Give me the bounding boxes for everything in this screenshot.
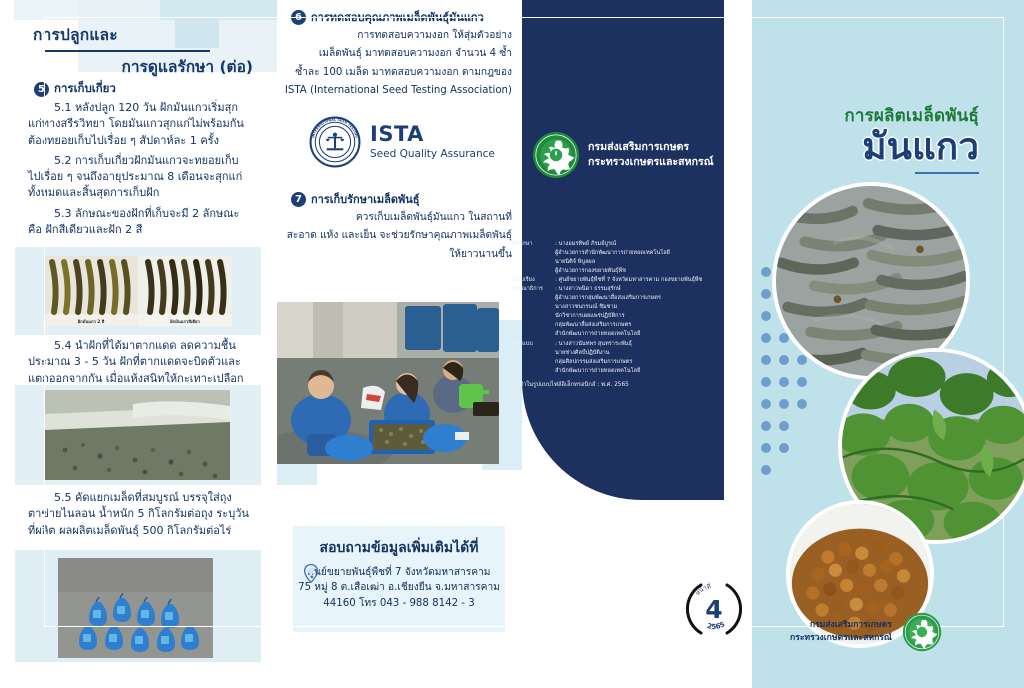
cover-footer-line-1: กรมส่งเสริมการเกษตร <box>790 619 892 632</box>
page-number-badge: หน้าที่ 2565 4 <box>683 578 745 640</box>
cover-title-large: มันแกว <box>724 128 979 167</box>
cover-title-underline <box>915 172 979 174</box>
department-seal-icon <box>902 612 942 652</box>
cover-footer: กรมส่งเสริมการเกษตร กระทรวงเกษตรและสหกรณ… <box>790 612 942 652</box>
brochure-page: การปลูกและ การดูแลรักษา (ต่อ) 5 การเก็บเ… <box>0 0 1024 688</box>
cover-footer-text: กรมส่งเสริมการเกษตร กระทรวงเกษตรและสหกรณ… <box>790 619 892 645</box>
cover-footer-line-2: กระทรวงเกษตรและสหกรณ์ <box>790 632 892 645</box>
cover-title: การผลิตเมล็ดพันธุ์ มันแกว <box>724 102 996 174</box>
page-number: 4 <box>683 578 745 640</box>
